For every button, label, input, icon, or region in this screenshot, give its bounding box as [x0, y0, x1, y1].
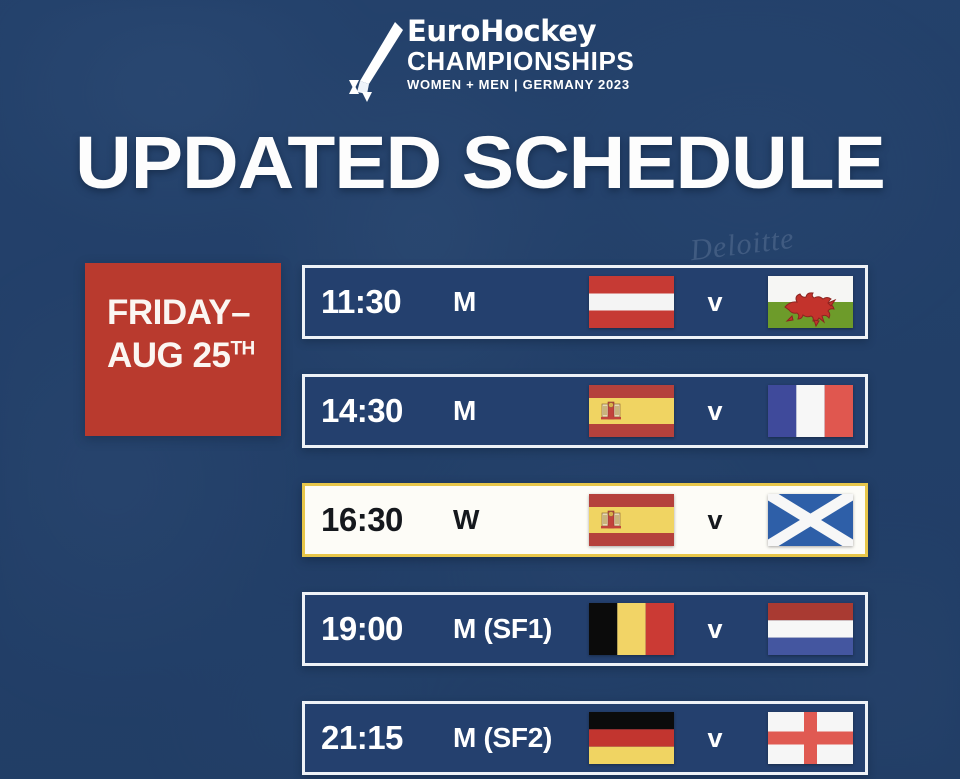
versus-label: v [675, 723, 755, 754]
flag-scotland-icon [755, 494, 865, 546]
schedule-row[interactable]: 19:00M (SF1) v [302, 592, 868, 666]
date-badge-ordinal: TH [230, 338, 254, 359]
flag-france-icon [755, 385, 865, 437]
match-category: M (SF1) [453, 613, 587, 645]
schedule-row[interactable]: 14:30M v [302, 374, 868, 448]
eurohockey-logo: EuroHockey CHAMPIONSHIPS WOMEN + MEN | G… [345, 16, 635, 106]
flag-belgium-icon [587, 603, 675, 655]
flag-austria-icon [587, 276, 675, 328]
match-time: 16:30 [305, 501, 453, 539]
logo-line-event-info: WOMEN + MEN | GERMANY 2023 [407, 76, 635, 94]
hockey-stick-icon [345, 18, 407, 104]
schedule-list: 11:30M v 14:30M v [302, 265, 868, 779]
poster-canvas: Deloitte EuroHockey CHAMPIONSHIPS WOMEN … [0, 0, 960, 779]
schedule-row[interactable]: 21:15M (SF2) v [302, 701, 868, 775]
match-time: 11:30 [305, 283, 453, 321]
flag-germany-icon [587, 712, 675, 764]
date-badge: FRIDAY– AUG 25TH [85, 263, 281, 436]
match-category: W [453, 504, 587, 536]
versus-label: v [675, 287, 755, 318]
match-category: M (SF2) [453, 722, 587, 754]
schedule-row[interactable]: 16:30W v [302, 483, 868, 557]
date-badge-month-day: AUG 25 [107, 336, 230, 375]
flag-england-icon [755, 712, 865, 764]
date-badge-day: FRIDAY– [107, 291, 255, 334]
flag-wales-icon [755, 276, 865, 328]
match-time: 19:00 [305, 610, 453, 648]
versus-label: v [675, 505, 755, 536]
logo-wordmark: EuroHockey CHAMPIONSHIPS WOMEN + MEN | G… [407, 16, 635, 94]
page-title: UPDATED SCHEDULE [0, 126, 960, 200]
flag-spain-icon [587, 385, 675, 437]
match-category: M [453, 286, 587, 318]
match-time: 14:30 [305, 392, 453, 430]
match-category: M [453, 395, 587, 427]
flag-netherlands-icon [755, 603, 865, 655]
flag-spain-icon [587, 494, 675, 546]
versus-label: v [675, 614, 755, 645]
versus-label: v [675, 396, 755, 427]
logo-line-euro-hockey: EuroHockey [407, 16, 635, 47]
schedule-row[interactable]: 11:30M v [302, 265, 868, 339]
match-time: 21:15 [305, 719, 453, 757]
date-badge-date: AUG 25TH [107, 334, 255, 377]
logo-line-championships: CHAMPIONSHIPS [407, 47, 635, 76]
